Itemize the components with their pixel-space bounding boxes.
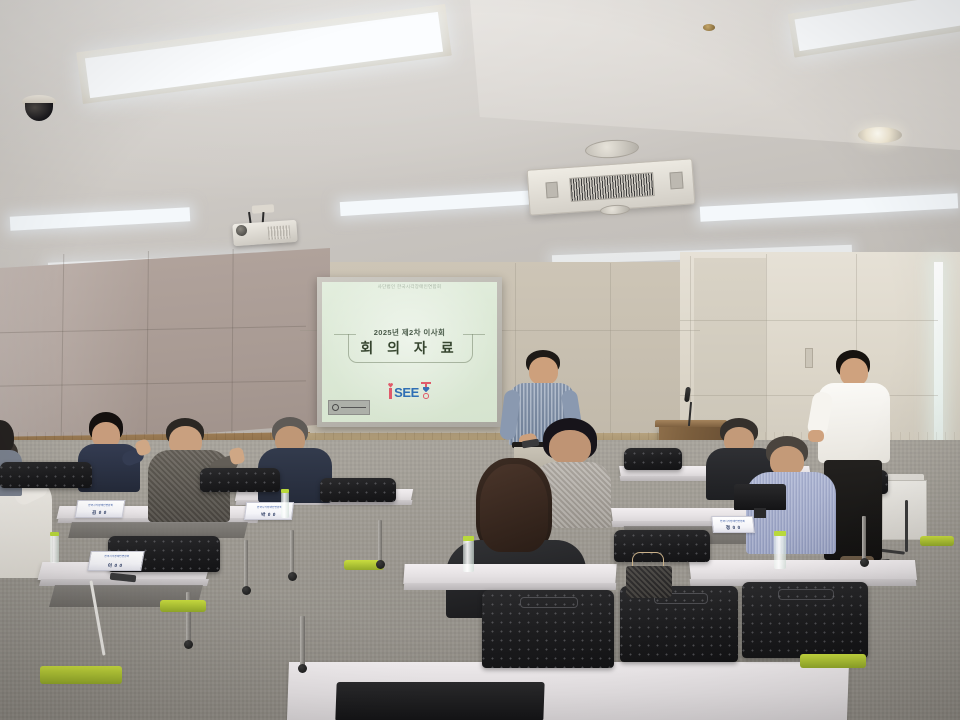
- table-caster-3[interactable]: [376, 560, 385, 569]
- chair-perforation: [0, 462, 92, 488]
- slide-faint-header: 사단법인 한국시각장애인연합회: [322, 284, 497, 290]
- logo-mark-heart-icon: [423, 387, 430, 393]
- wall-seam-r-v2: [766, 254, 767, 458]
- logo-see-text: SEE: [394, 386, 419, 399]
- chair-seat-green-1[interactable]: [800, 654, 866, 668]
- chair-perforation: [320, 478, 396, 502]
- monitor-stand: [754, 508, 766, 518]
- wall-seam-c-v2: [610, 263, 611, 435]
- floor-cable-3: [905, 500, 908, 552]
- wall-seam-r-h1: [680, 320, 938, 321]
- chair-mid-left-4[interactable]: [320, 478, 396, 502]
- table-front-right: [689, 560, 917, 580]
- bottle-cap-4: [774, 531, 786, 536]
- table-leg-2: [290, 530, 294, 576]
- water-bottle-2[interactable]: [50, 535, 59, 563]
- logo-i-letter: [388, 383, 393, 399]
- table-caster-5[interactable]: [860, 558, 869, 567]
- table-caster-4[interactable]: [242, 586, 251, 595]
- table-caster-1[interactable]: [184, 640, 193, 649]
- water-bottle-3[interactable]: [463, 540, 474, 572]
- slide-kicker: 2025년 제2차 이사회: [322, 327, 497, 338]
- logo-mark-circle-icon: [423, 393, 429, 399]
- staff-head: [840, 358, 868, 386]
- chair-mid-left-1[interactable]: [0, 462, 92, 488]
- chair-handle[interactable]: [520, 597, 578, 608]
- table-leg-6: [300, 616, 305, 668]
- name-tent-org: 한국시각장애인연합회: [91, 554, 144, 558]
- woman-hair-front: [480, 464, 548, 552]
- name-tent-name: 김 0 0: [76, 510, 123, 516]
- organization-logo: SEE: [322, 382, 497, 399]
- table-leg-5: [862, 516, 866, 562]
- projector-vent: [268, 225, 291, 240]
- staff-hand: [808, 430, 824, 442]
- chair-front-1[interactable]: [482, 590, 614, 668]
- presenter-head: [529, 357, 558, 385]
- slide-title: 회 의 자 료: [322, 338, 497, 358]
- heart-icon: [388, 383, 393, 388]
- chair-seat-green-3[interactable]: [160, 600, 206, 612]
- table-caster-2[interactable]: [288, 572, 297, 581]
- name-tent-1: 한국시각장애인연합회 김 0 0: [75, 500, 126, 518]
- name-tent-4: 한국시각장애인연합회 정 0 0: [711, 516, 755, 533]
- handbag[interactable]: [626, 566, 672, 598]
- water-bottle-4[interactable]: [774, 535, 786, 569]
- handbag-pattern: [626, 566, 672, 598]
- conference-room-photo: 사단법인 한국시각장애인연합회 2025년 제2차 이사회 회 의 자 료 SE…: [0, 0, 960, 720]
- chair-seat-green-2[interactable]: [40, 666, 122, 684]
- table-leg-4: [244, 540, 248, 590]
- bottle-cap-1: [281, 489, 289, 493]
- bottle-cap-3: [463, 536, 474, 541]
- downlight-icon-1: [858, 127, 902, 143]
- projector-osd-overlay: [328, 400, 370, 415]
- bottle-cap-2: [50, 532, 59, 536]
- ac-side-vent-right: [669, 172, 683, 190]
- name-tent-name: 정 0 0: [713, 525, 754, 531]
- chair-perforation: [624, 448, 682, 470]
- chair-perforation: [200, 468, 280, 492]
- name-tent-name: 이 0 0: [89, 563, 142, 569]
- logo-hangul-mark: [421, 382, 431, 399]
- chair-front-3[interactable]: [742, 582, 868, 658]
- projection-screen[interactable]: 사단법인 한국시각장애인연합회 2025년 제2차 이사회 회 의 자 료 SE…: [322, 282, 497, 422]
- ac-side-vent-left: [545, 182, 558, 199]
- table-caster-6[interactable]: [298, 664, 307, 673]
- osd-bar: [341, 407, 366, 409]
- chair-seat-green-5[interactable]: [920, 536, 954, 546]
- wall-card-reader: [805, 348, 813, 368]
- name-tent-org: 한국시각장애인연합회: [77, 503, 124, 507]
- table-front-center: [403, 564, 616, 584]
- chair-back-r1[interactable]: [624, 448, 682, 470]
- monitor-back-podium: [734, 484, 786, 510]
- sprinkler-head-icon: [703, 24, 715, 31]
- name-tent-2: 한국시각장애인연합회 이 0 0: [87, 551, 145, 571]
- logo-i-stem: [389, 388, 392, 399]
- podium-top-surface: [655, 420, 727, 427]
- gear-icon: [332, 404, 339, 411]
- chair-handle[interactable]: [778, 589, 834, 600]
- water-bottle-1[interactable]: [281, 492, 289, 518]
- chair-mid-left-3[interactable]: [200, 468, 280, 492]
- table-front-center-edge: [404, 583, 616, 590]
- name-tent-org: 한국시각장애인연합회: [712, 519, 752, 523]
- table-leg-3: [378, 520, 382, 564]
- wall-seam-r-h2: [680, 395, 938, 396]
- laptop-lid[interactable]: [335, 682, 544, 720]
- head: [549, 430, 591, 464]
